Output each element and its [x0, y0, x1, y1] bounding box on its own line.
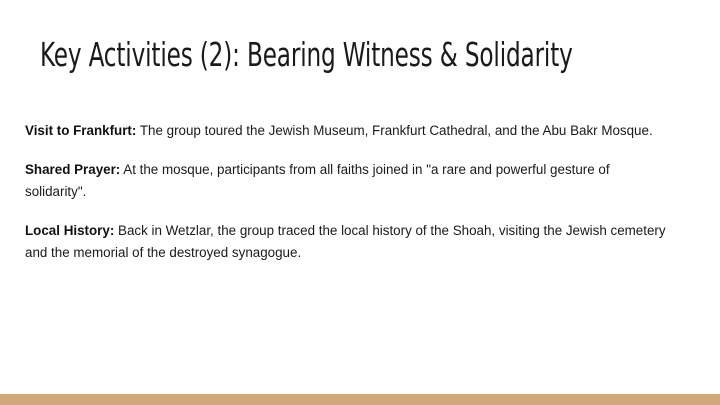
slide-body: Visit to Frankfurt: The group toured the… — [25, 120, 670, 264]
list-item: Visit to Frankfurt: The group toured the… — [25, 120, 670, 142]
footer-accent-bar — [0, 394, 720, 405]
slide: Key Activities (2): Bearing Witness & So… — [0, 0, 720, 405]
paragraph-body-text: The group toured the Jewish Museum, Fran… — [136, 123, 652, 138]
paragraph-lead-label: Visit to Frankfurt: — [25, 123, 136, 138]
paragraph-lead-label: Shared Prayer: — [25, 162, 120, 177]
paragraph-body-text: Back in Wetzlar, the group traced the lo… — [25, 223, 666, 260]
list-item: Local History: Back in Wetzlar, the grou… — [25, 220, 670, 264]
list-item: Shared Prayer: At the mosque, participan… — [25, 159, 670, 203]
page-title: Key Activities (2): Bearing Witness & So… — [40, 33, 539, 77]
paragraph-lead-label: Local History: — [25, 223, 114, 238]
